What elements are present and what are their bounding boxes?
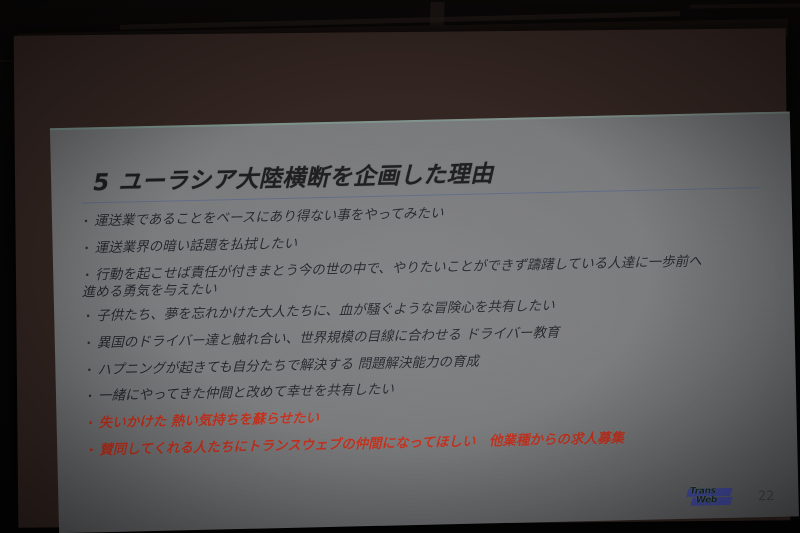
bullet-marker: ・ xyxy=(84,389,98,406)
list-item: ・ 運送業界の暗い話題を払拭したい xyxy=(80,225,766,257)
list-item-text: 賛同してくれる人たちにトランスウェブの仲間になってほしい 他業種からの求人募集 xyxy=(99,427,771,459)
list-item-text: 行動を起こせば責任が付きまとう今の世の中で、やりたいことができず躊躇している人達… xyxy=(95,252,768,301)
bullet-marker: ・ xyxy=(80,214,94,231)
bullet-marker: ・ xyxy=(85,442,99,459)
list-item-highlight: ・ 賛同してくれる人たちにトランスウェブの仲間になってほしい 他業種からの求人募… xyxy=(85,427,771,459)
bullet-marker: ・ xyxy=(83,362,97,379)
list-item: ・ 一緒にやってきた仲間と改めて幸せを共有したい xyxy=(84,373,770,405)
list-item-text: 運送業界の暗い話題を払拭したい xyxy=(94,225,766,257)
projector-screen-photo: 5 ユーラシア大陸横断を企画した理由 ・ 運送業であることをベースにあり得ない事… xyxy=(0,0,800,533)
list-item-text: 異国のドライバー達と触れ合い、世界規模の目線に合わせる ドライバー教育 xyxy=(97,320,769,352)
slide-footer: Trans Web 22 xyxy=(686,485,775,509)
bullet-marker: ・ xyxy=(80,240,94,257)
list-item-highlight: ・ 失いかけた 熱い気持ちを蘇らせたい xyxy=(84,400,770,432)
bullet-marker: ・ xyxy=(83,335,97,352)
projector-screen-frame: 5 ユーラシア大陸横断を企画した理由 ・ 運送業であることをベースにあり得ない事… xyxy=(14,28,791,527)
transweb-logo: Trans Web xyxy=(686,486,736,509)
list-item: ・ 異国のドライバー達と触れ合い、世界規模の目線に合わせる ドライバー教育 xyxy=(83,320,769,352)
list-item: ・ 行動を起こせば責任が付きまとう今の世の中で、やりたいことができず躊躇している… xyxy=(81,252,768,301)
list-item-text: 失いかけた 熱い気持ちを蘇らせたい xyxy=(98,400,770,432)
bullet-marker: ・ xyxy=(81,267,95,284)
list-item-text: ハプニングが起きても自分たちで解決する 問題解決能力の育成 xyxy=(97,347,769,379)
bullet-marker: ・ xyxy=(84,416,98,433)
bullet-list: ・ 運送業であることをベースにあり得ない事をやってみたい ・ 運送業界の暗い話題… xyxy=(80,198,771,459)
list-item: ・ ハプニングが起きても自分たちで解決する 問題解決能力の育成 xyxy=(83,347,769,379)
projected-slide: 5 ユーラシア大陸横断を企画した理由 ・ 運送業であることをベースにあり得ない事… xyxy=(50,111,799,533)
list-item: ・ 運送業であることをベースにあり得ない事をやってみたい xyxy=(80,198,766,230)
list-item-text: 運送業であることをベースにあり得ない事をやってみたい xyxy=(94,198,766,230)
bullet-marker: ・ xyxy=(82,308,96,325)
logo-text-web: Web xyxy=(696,495,717,505)
list-item-text: 一緒にやってきた仲間と改めて幸せを共有したい xyxy=(98,373,770,405)
page-number: 22 xyxy=(758,488,775,503)
